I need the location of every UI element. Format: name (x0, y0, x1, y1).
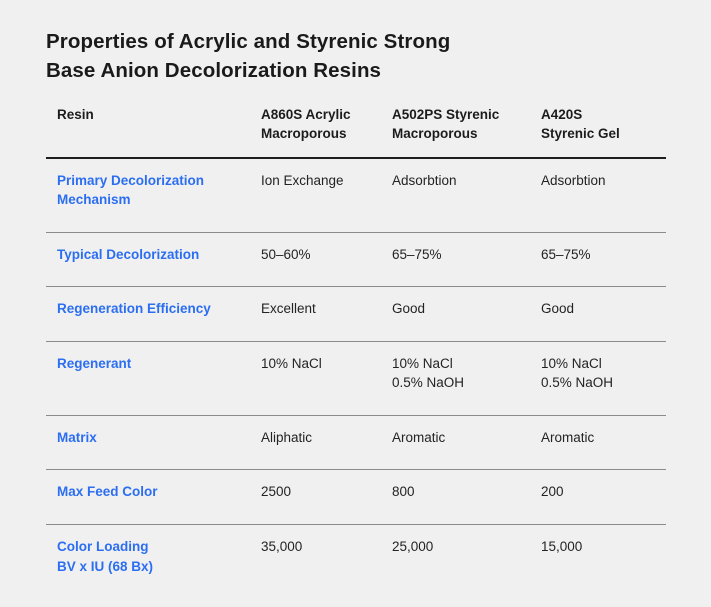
cell-a860s: 35,000 (261, 525, 392, 599)
cell-value-line-1: Aromatic (541, 428, 658, 448)
column-header-resin: Resin (46, 105, 261, 157)
cell-value-line-1: 15,000 (541, 537, 658, 557)
cell-a420s: Good (541, 287, 666, 342)
row-label-line-1: Matrix (57, 428, 253, 448)
cell-a860s: 10% NaCl (261, 341, 392, 415)
table-row: Primary Decolorization Mechanism Ion Exc… (46, 158, 666, 233)
table-row: Matrix Aliphatic Aromatic Aromatic (46, 415, 666, 470)
row-label-primary-decolorization-mechanism: Primary Decolorization Mechanism (46, 158, 261, 233)
row-label-regeneration-efficiency: Regeneration Efficiency (46, 287, 261, 342)
cell-value-line-1: 65–75% (541, 245, 658, 265)
cell-value-line-1: Aliphatic (261, 428, 384, 448)
table-row: Color Loading BV x IU (68 Bx) 35,000 25,… (46, 525, 666, 599)
cell-value-line-1: 35,000 (261, 537, 384, 557)
row-label-matrix: Matrix (46, 415, 261, 470)
cell-value-line-1: Good (541, 299, 658, 319)
column-header-a502ps-line-1: A502PS Styrenic (392, 105, 533, 124)
cell-a860s: Excellent (261, 287, 392, 342)
cell-value-line-1: Excellent (261, 299, 384, 319)
row-label-line-2: Mechanism (57, 190, 253, 210)
row-label-typical-decolorization: Typical Decolorization (46, 232, 261, 287)
cell-value-line-1: 800 (392, 482, 533, 502)
cell-a502ps: 10% NaCl 0.5% NaOH (392, 341, 541, 415)
table-header-row: Resin A860S Acrylic Macroporous A502PS S… (46, 105, 666, 157)
row-label-regenerant: Regenerant (46, 341, 261, 415)
cell-value-line-1: 200 (541, 482, 658, 502)
cell-a502ps: Good (392, 287, 541, 342)
cell-a502ps: 800 (392, 470, 541, 525)
table-row: Typical Decolorization 50–60% 65–75% 65–… (46, 232, 666, 287)
column-header-a502ps-line-2: Macroporous (392, 124, 533, 143)
row-label-max-feed-color: Max Feed Color (46, 470, 261, 525)
column-header-a420s-line-1: A420S (541, 105, 658, 124)
table-body: Primary Decolorization Mechanism Ion Exc… (46, 158, 666, 599)
cell-a420s: 200 (541, 470, 666, 525)
cell-value-line-1: Adsorbtion (392, 171, 533, 191)
cell-value-line-1: 50–60% (261, 245, 384, 265)
column-header-a860s-line-2: Macroporous (261, 124, 384, 143)
cell-a420s: Adsorbtion (541, 158, 666, 233)
row-label-line-1: Regeneration Efficiency (57, 299, 253, 319)
cell-a502ps: Adsorbtion (392, 158, 541, 233)
cell-a860s: 50–60% (261, 232, 392, 287)
cell-a420s: 15,000 (541, 525, 666, 599)
cell-a502ps: 25,000 (392, 525, 541, 599)
table-header: Resin A860S Acrylic Macroporous A502PS S… (46, 105, 666, 157)
row-label-line-1: Color Loading (57, 537, 253, 557)
cell-value-line-1: 10% NaCl (261, 354, 384, 374)
table-row: Regenerant 10% NaCl 10% NaCl 0.5% NaOH 1… (46, 341, 666, 415)
cell-value-line-1: 10% NaCl (541, 354, 658, 374)
column-header-a420s: A420S Styrenic Gel (541, 105, 666, 157)
row-label-color-loading: Color Loading BV x IU (68 Bx) (46, 525, 261, 599)
cell-a860s: Aliphatic (261, 415, 392, 470)
column-header-a860s-line-1: A860S Acrylic (261, 105, 384, 124)
cell-value-line-1: Good (392, 299, 533, 319)
cell-value-line-1: 2500 (261, 482, 384, 502)
row-label-line-1: Regenerant (57, 354, 253, 374)
cell-value-line-1: Aromatic (392, 428, 533, 448)
row-label-line-1: Max Feed Color (57, 482, 253, 502)
column-header-a502ps: A502PS Styrenic Macroporous (392, 105, 541, 157)
row-label-line-2: BV x IU (68 Bx) (57, 557, 253, 577)
page-title-line-2: Base Anion Decolorization Resins (46, 56, 566, 85)
cell-a502ps: 65–75% (392, 232, 541, 287)
column-header-resin-line-1: Resin (57, 105, 253, 124)
cell-a502ps: Aromatic (392, 415, 541, 470)
cell-value-line-1: 25,000 (392, 537, 533, 557)
cell-a860s: 2500 (261, 470, 392, 525)
page-title-line-1: Properties of Acrylic and Styrenic Stron… (46, 27, 566, 56)
cell-a420s: Aromatic (541, 415, 666, 470)
cell-value-line-2: 0.5% NaOH (541, 373, 658, 393)
row-label-line-1: Primary Decolorization (57, 171, 253, 191)
page-title: Properties of Acrylic and Styrenic Stron… (46, 0, 566, 85)
cell-a420s: 65–75% (541, 232, 666, 287)
resin-properties-table: Resin A860S Acrylic Macroporous A502PS S… (46, 105, 666, 598)
document-page: Properties of Acrylic and Styrenic Stron… (0, 0, 711, 607)
column-header-a420s-line-2: Styrenic Gel (541, 124, 658, 143)
cell-a420s: 10% NaCl 0.5% NaOH (541, 341, 666, 415)
row-label-line-1: Typical Decolorization (57, 245, 253, 265)
table-row: Max Feed Color 2500 800 200 (46, 470, 666, 525)
cell-value-line-1: Ion Exchange (261, 171, 384, 191)
table-row: Regeneration Efficiency Excellent Good G… (46, 287, 666, 342)
cell-a860s: Ion Exchange (261, 158, 392, 233)
cell-value-line-1: 65–75% (392, 245, 533, 265)
cell-value-line-2: 0.5% NaOH (392, 373, 533, 393)
cell-value-line-1: Adsorbtion (541, 171, 658, 191)
column-header-a860s: A860S Acrylic Macroporous (261, 105, 392, 157)
cell-value-line-1: 10% NaCl (392, 354, 533, 374)
